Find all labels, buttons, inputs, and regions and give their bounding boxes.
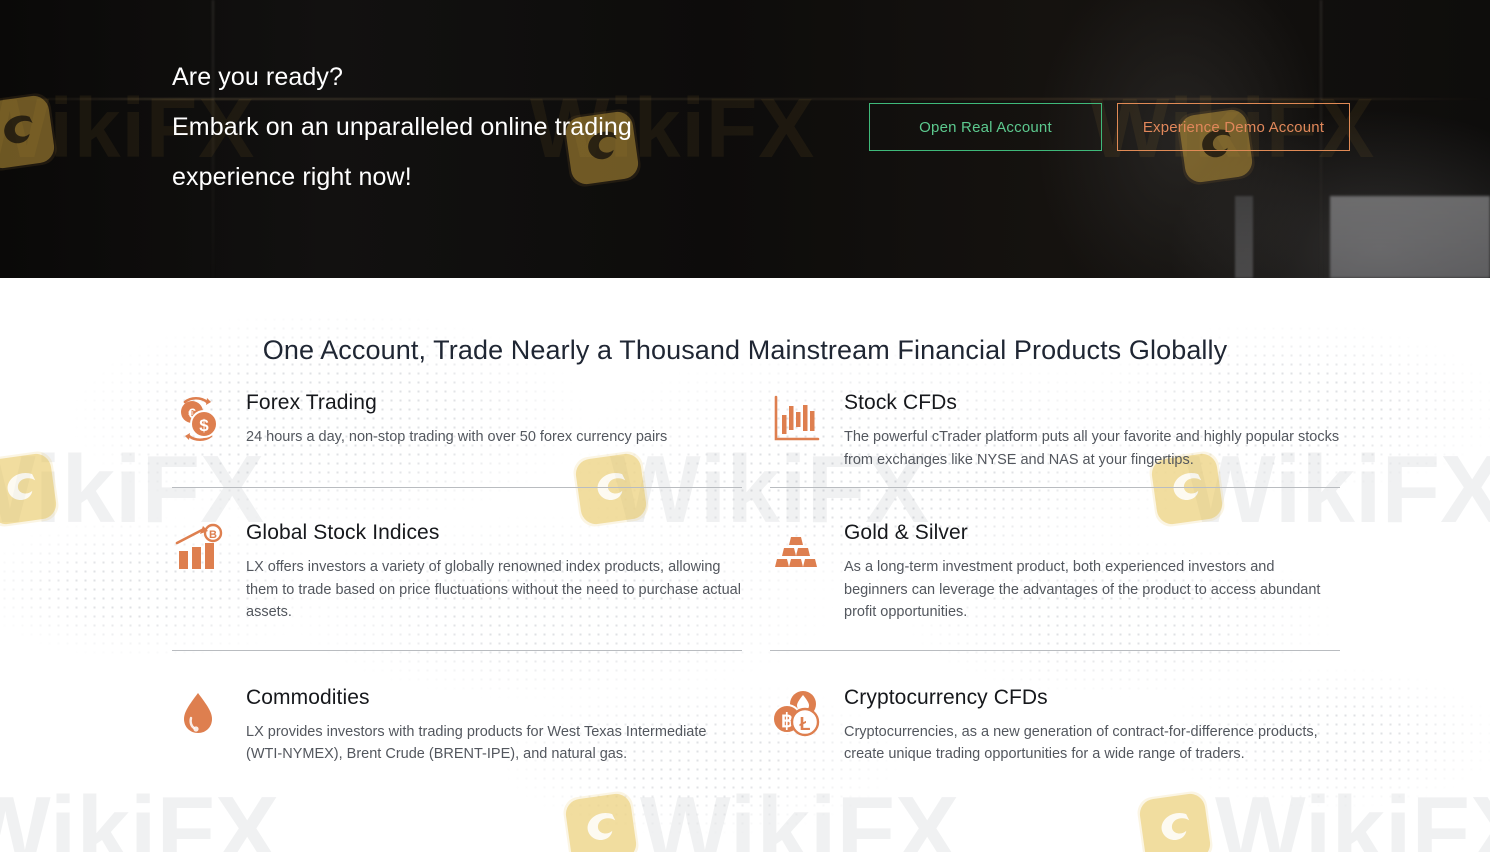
- product-description: As a long-term investment product, both …: [844, 556, 1340, 624]
- growth-chart-icon: B: [172, 523, 224, 575]
- product-description: LX provides investors with trading produ…: [246, 721, 742, 766]
- bar-chart-icon: [770, 393, 822, 445]
- card-divider: [770, 487, 1340, 488]
- product-card-commodities[interactable]: Commodities LX provides investors with t…: [172, 683, 742, 766]
- product-card-gold-silver[interactable]: Gold & Silver As a long-term investment …: [770, 518, 1340, 651]
- products-section: WikiFX WikiFX WikiFX WikiFX WikiFX WikiF…: [0, 278, 1490, 852]
- open-real-account-button[interactable]: Open Real Account: [869, 103, 1102, 151]
- product-title: Stock CFDs: [844, 388, 1340, 418]
- card-divider: [770, 650, 1340, 651]
- crypto-coins-icon: ฿ Ł: [770, 688, 822, 740]
- products-grid-row-3: Commodities LX provides investors with t…: [0, 683, 1490, 766]
- product-description: LX offers investors a variety of globall…: [246, 556, 742, 624]
- card-divider: [172, 487, 742, 488]
- product-title: Global Stock Indices: [246, 518, 742, 548]
- wikifx-logo-icon: [1135, 789, 1214, 852]
- landing-page: WikiFX WikiFX WikiFX Are you ready? Emba…: [0, 0, 1490, 852]
- experience-demo-account-button[interactable]: Experience Demo Account: [1117, 103, 1350, 151]
- products-grid-row-2: B Global Stock Indices LX offers investo…: [0, 518, 1490, 651]
- product-card-forex-trading[interactable]: € $ Forex Trading 24 hours a day, non-st…: [172, 388, 742, 488]
- hero-copy: Are you ready? Embark on an unparalleled…: [0, 0, 1490, 202]
- product-title: Gold & Silver: [844, 518, 1340, 548]
- product-title: Forex Trading: [246, 388, 742, 418]
- watermark-text: WikiFX: [640, 776, 959, 852]
- product-description: Cryptocurrencies, as a new generation of…: [844, 721, 1340, 766]
- hero-headline-3: experience right now!: [172, 152, 1490, 202]
- section-title: One Account, Trade Nearly a Thousand Mai…: [0, 278, 1490, 366]
- product-title: Commodities: [246, 683, 742, 713]
- hero-bg-shape: [1330, 196, 1490, 278]
- product-description: 24 hours a day, non-stop trading with ov…: [246, 426, 742, 449]
- product-card-stock-cfds[interactable]: Stock CFDs The powerful cTrader platform…: [770, 388, 1340, 488]
- watermark-text: WikiFX: [1215, 776, 1490, 852]
- svg-text:$: $: [199, 416, 209, 435]
- oil-droplet-icon: [172, 688, 224, 740]
- product-title: Cryptocurrency CFDs: [844, 683, 1340, 713]
- product-description: The powerful cTrader platform puts all y…: [844, 426, 1340, 471]
- wikifx-logo-icon: [561, 789, 640, 852]
- svg-text:Ł: Ł: [800, 714, 811, 734]
- products-grid-row-1: € $ Forex Trading 24 hours a day, non-st…: [0, 388, 1490, 488]
- product-card-global-stock-indices[interactable]: B Global Stock Indices LX offers investo…: [172, 518, 742, 651]
- card-divider: [172, 650, 742, 651]
- product-card-cryptocurrency-cfds[interactable]: ฿ Ł Cryptocurrency CFDs Cryptocurrencies…: [770, 683, 1340, 766]
- forex-exchange-coins-icon: € $: [172, 393, 224, 445]
- svg-text:B: B: [209, 529, 217, 541]
- hero-headline-1: Are you ready?: [172, 52, 1490, 102]
- hero-section: WikiFX WikiFX WikiFX Are you ready? Emba…: [0, 0, 1490, 278]
- watermark-text: WikiFX: [0, 776, 279, 852]
- gold-bars-icon: [770, 523, 822, 575]
- hero-cta-group: Open Real Account Experience Demo Accoun…: [869, 103, 1350, 151]
- hero-bg-shape: [1235, 196, 1253, 278]
